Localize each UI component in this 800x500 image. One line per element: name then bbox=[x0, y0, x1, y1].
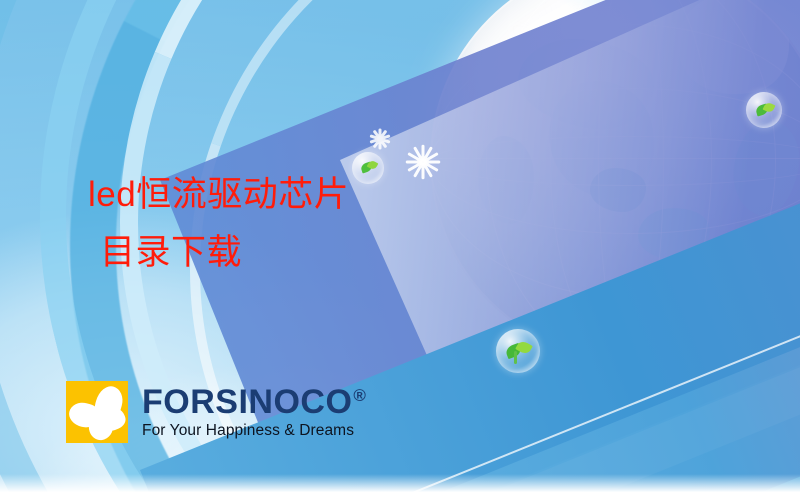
forsinoco-pinwheel-mark-icon bbox=[66, 381, 128, 443]
bubble-center-icon bbox=[496, 329, 540, 373]
brand-name: FORSINOCO bbox=[142, 385, 352, 419]
brand-logo: FORSINOCO® For Your Happiness & Dreams bbox=[66, 381, 366, 443]
headline: led恒流驱动芯片 目录下载 bbox=[0, 166, 430, 282]
sprout-stem-icon bbox=[514, 351, 517, 364]
brand-tagline: For Your Happiness & Dreams bbox=[142, 423, 366, 439]
bubble-top-right-icon bbox=[746, 92, 782, 128]
starburst-small-icon bbox=[370, 128, 392, 150]
headline-line-2: 目录下载 bbox=[0, 224, 430, 282]
promo-banner: led恒流驱动芯片 目录下载 FORSINOCO® For Your Happi… bbox=[0, 0, 800, 500]
registered-trademark-icon: ® bbox=[353, 387, 366, 404]
brand-text-block: FORSINOCO® For Your Happiness & Dreams bbox=[142, 385, 366, 439]
brand-name-row: FORSINOCO® bbox=[142, 385, 366, 419]
bottom-fade bbox=[0, 474, 800, 500]
headline-line-1: led恒流驱动芯片 bbox=[0, 166, 430, 224]
